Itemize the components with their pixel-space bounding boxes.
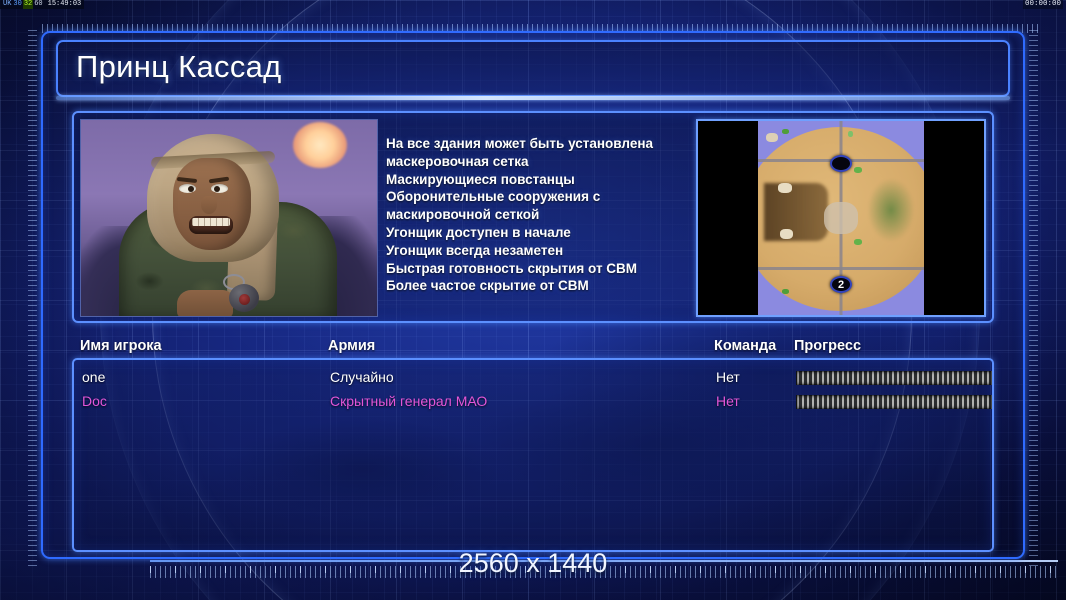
general-info-panel: На все здания может быть установлена мас… <box>72 111 994 323</box>
cell-player-name: one <box>82 369 105 385</box>
portrait-teeth <box>192 218 230 226</box>
cell-player-name: Doc <box>82 393 107 409</box>
column-header-progress: Прогресс <box>794 338 861 354</box>
title-underline <box>56 96 1010 100</box>
grenade-light <box>239 294 250 305</box>
cell-army[interactable]: Случайно <box>330 369 394 385</box>
page-title: Принц Кассад <box>76 49 282 85</box>
portrait-nose <box>201 196 217 214</box>
map-shadow-region <box>764 183 828 241</box>
portrait-head <box>147 134 279 262</box>
game-lobby-screen: Принц Кассад <box>0 0 1066 600</box>
portrait-brow-right <box>209 177 229 184</box>
description-line: Оборонительные сооружения с <box>386 188 706 206</box>
table-row[interactable]: Doc Скрытный генерал МАО Нет <box>74 390 992 414</box>
general-portrait <box>80 119 378 317</box>
resolution-caption: 2560 x 1440 <box>0 548 1066 579</box>
cell-team[interactable]: Нет <box>716 369 740 385</box>
cell-army[interactable]: Скрытный генерал МАО <box>330 393 487 409</box>
map-preview[interactable]: 2 <box>696 119 986 317</box>
description-line: Быстрая готовность скрытия от СВМ <box>386 260 706 278</box>
description-line: На все здания может быть установлена <box>386 135 706 153</box>
progress-bar <box>796 371 992 385</box>
description-line: маскеровочная сетка <box>386 153 706 171</box>
portrait-eye-right <box>211 184 228 193</box>
column-header-player-name: Имя игрока <box>80 338 162 354</box>
portrait-pupil-left <box>188 186 194 192</box>
description-line: Угонщик доступен в начале <box>386 224 706 242</box>
portrait-sun <box>293 122 347 168</box>
description-line: маскировочной сеткой <box>386 206 706 224</box>
portrait-brow-left <box>177 177 197 183</box>
portrait-eye-left <box>179 184 196 193</box>
column-header-army: Армия <box>328 338 375 354</box>
overlay-segment-label: UK <box>2 0 12 9</box>
ruler-strip-top <box>42 24 1038 33</box>
map-spawn-marker[interactable]: 2 <box>830 276 852 293</box>
map-vegetation <box>868 179 914 241</box>
player-roster-panel: one Случайно Нет Doc Скрытный генерал МА… <box>72 358 994 552</box>
table-row[interactable]: one Случайно Нет <box>74 366 992 390</box>
title-panel: Принц Кассад <box>56 40 1010 97</box>
map-image: 2 <box>758 121 924 315</box>
ruler-strip-left <box>28 30 37 570</box>
map-spawn-marker[interactable] <box>830 155 852 172</box>
portrait-mouth <box>189 216 233 234</box>
portrait-grenade <box>221 274 265 314</box>
ruler-strip-right <box>1029 30 1038 570</box>
roster-column-headers: Имя игрока Армия Команда Прогресс <box>72 338 994 358</box>
description-line: Маскирующиеся повстанцы <box>386 171 706 189</box>
session-timer: 00:00:00 <box>1023 0 1063 9</box>
overlay-segment-limit: 60 <box>33 0 43 9</box>
overlay-segment-highlight: 32 <box>23 0 33 9</box>
description-line: Более частое скрытие от СВМ <box>386 277 706 295</box>
progress-bar <box>796 395 992 409</box>
overlay-clock: 15:49:03 <box>44 0 83 9</box>
performance-overlay: UK 30 32 60 15:49:03 <box>0 0 84 9</box>
general-description: На все здания может быть установлена мас… <box>386 135 706 295</box>
portrait-pupil-right <box>214 186 220 192</box>
overlay-segment-fps: 30 <box>12 0 22 9</box>
portrait-face <box>173 158 251 250</box>
cell-team[interactable]: Нет <box>716 393 740 409</box>
description-line: Угонщик всегда незаметен <box>386 242 706 260</box>
column-header-team: Команда <box>714 338 776 354</box>
map-center-plaza <box>824 202 858 234</box>
